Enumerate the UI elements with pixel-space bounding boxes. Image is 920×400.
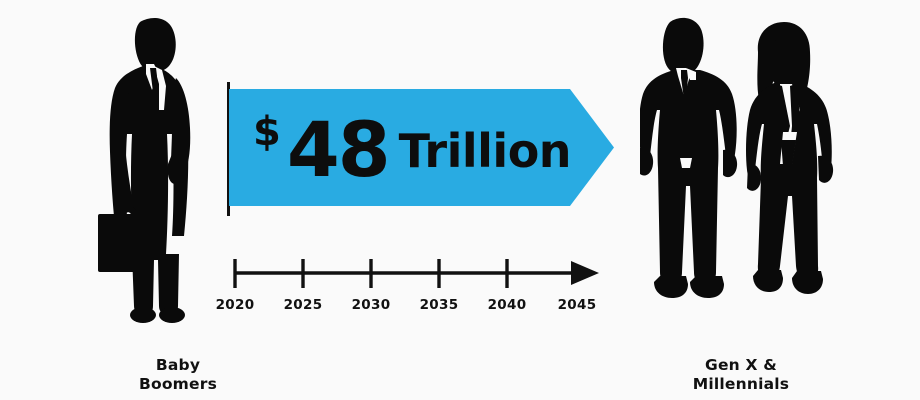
businessman-with-briefcase-icon	[88, 14, 228, 324]
baby-boomer-silhouette	[88, 14, 228, 324]
timeline-axis-graphic	[225, 252, 605, 296]
banner-text-row: $ 48 Trillion	[253, 89, 571, 206]
value-amount: 48	[287, 112, 389, 188]
gen-x-millennials-caption-line-1: Gen X &	[636, 356, 846, 375]
tick-label-2020: 2020	[205, 297, 265, 313]
baby-boomers-caption-line-2: Boomers	[78, 375, 278, 394]
timeline-arrowhead	[571, 261, 599, 285]
baby-boomers-caption-line-1: Baby	[78, 356, 278, 375]
tick-label-2025: 2025	[273, 297, 333, 313]
tick-label-2030: 2030	[341, 297, 401, 313]
businessman-shape	[640, 18, 737, 298]
baby-boomers-caption: Baby Boomers	[78, 356, 278, 394]
businessman-and-businesswoman-icon	[640, 14, 840, 326]
tick-label-2035: 2035	[409, 297, 469, 313]
currency-symbol: $	[253, 109, 280, 155]
tick-label-2045: 2045	[547, 297, 607, 313]
value-unit: Trillion	[399, 128, 571, 174]
wealth-transfer-banner: $ 48 Trillion	[229, 89, 614, 206]
infographic-canvas: Baby Boomers $ 48 Trillion	[0, 0, 920, 400]
tick-label-2040: 2040	[477, 297, 537, 313]
gen-x-millennials-caption: Gen X & Millennials	[636, 356, 846, 394]
timeline-tick-labels: 2020 2025 2030 2035 2040 2045	[205, 297, 625, 319]
gen-x-millennials-silhouettes	[640, 14, 840, 326]
businesswoman-shape	[746, 22, 833, 294]
gen-x-millennials-caption-line-2: Millennials	[636, 375, 846, 394]
timeline-axis	[225, 252, 605, 296]
